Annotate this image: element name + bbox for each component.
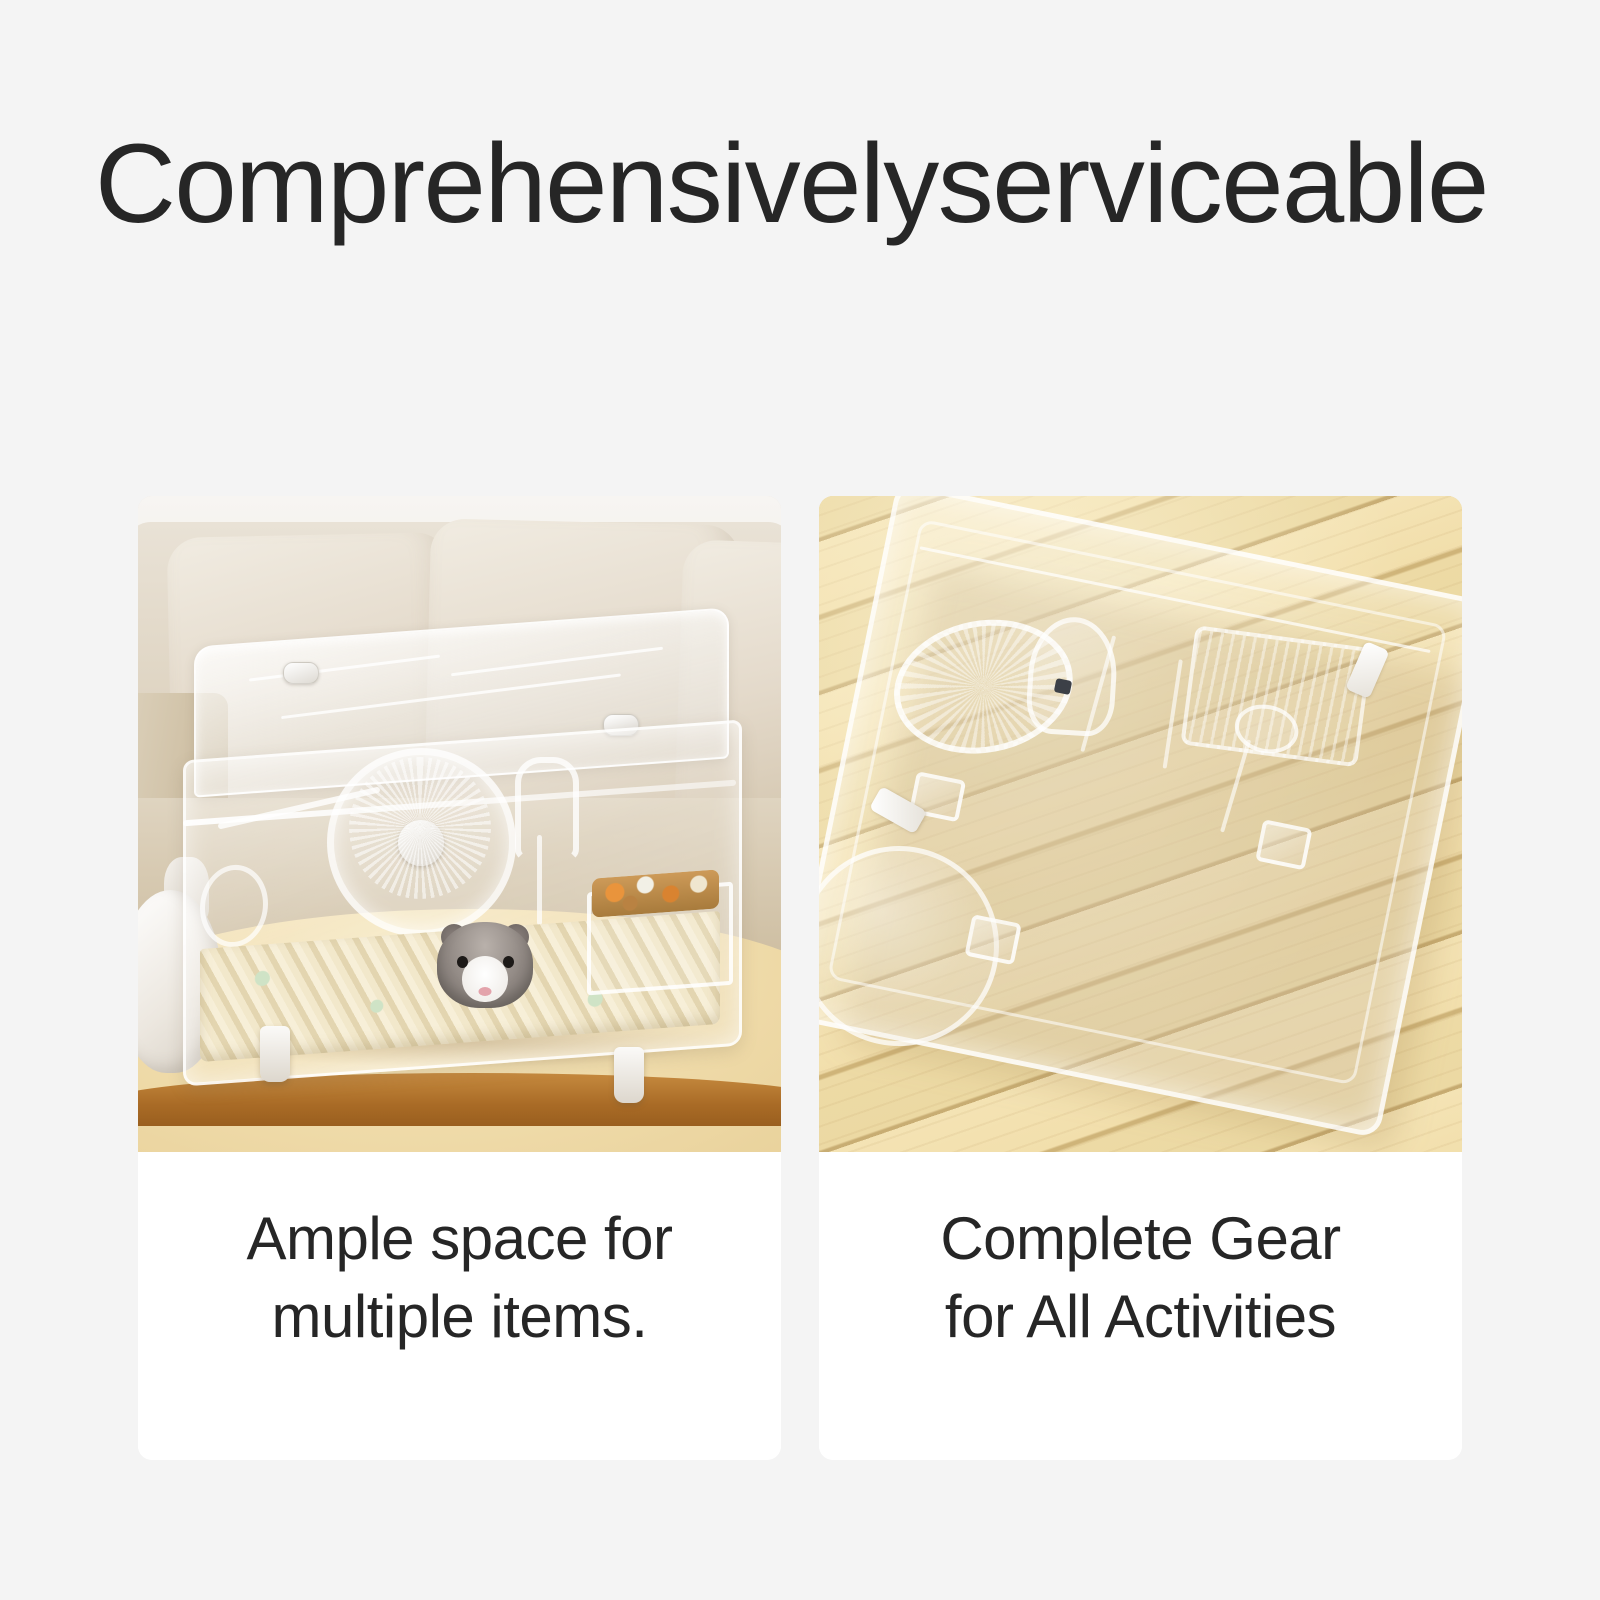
promo-page: Comprehensivelyserviceable bbox=[0, 0, 1600, 1600]
cage-legs bbox=[183, 627, 736, 1060]
hamster-cage bbox=[183, 627, 736, 1060]
product-photo-complete-gear bbox=[819, 496, 1462, 1152]
card-caption-text: Ample space for multiple items. bbox=[246, 1200, 672, 1356]
page-title: Comprehensivelyserviceable bbox=[95, 128, 1515, 240]
cage-leg bbox=[614, 1047, 644, 1103]
empty-hamster-cage bbox=[819, 496, 1462, 1127]
living-room-scene bbox=[138, 496, 781, 1152]
feature-card-ample-space[interactable]: Ample space for multiple items. bbox=[138, 496, 781, 1460]
cage-leg bbox=[260, 1026, 290, 1082]
wood-floor-scene bbox=[819, 496, 1462, 1152]
feature-card-row: Ample space for multiple items. bbox=[138, 496, 1462, 1460]
product-photo-ample-space bbox=[138, 496, 781, 1152]
card-caption-text: Complete Gear for All Activities bbox=[940, 1200, 1340, 1356]
feature-card-complete-gear[interactable]: Complete Gear for All Activities bbox=[819, 496, 1462, 1460]
card-caption-area: Ample space for multiple items. bbox=[138, 1152, 781, 1460]
card-caption-area: Complete Gear for All Activities bbox=[819, 1152, 1462, 1460]
